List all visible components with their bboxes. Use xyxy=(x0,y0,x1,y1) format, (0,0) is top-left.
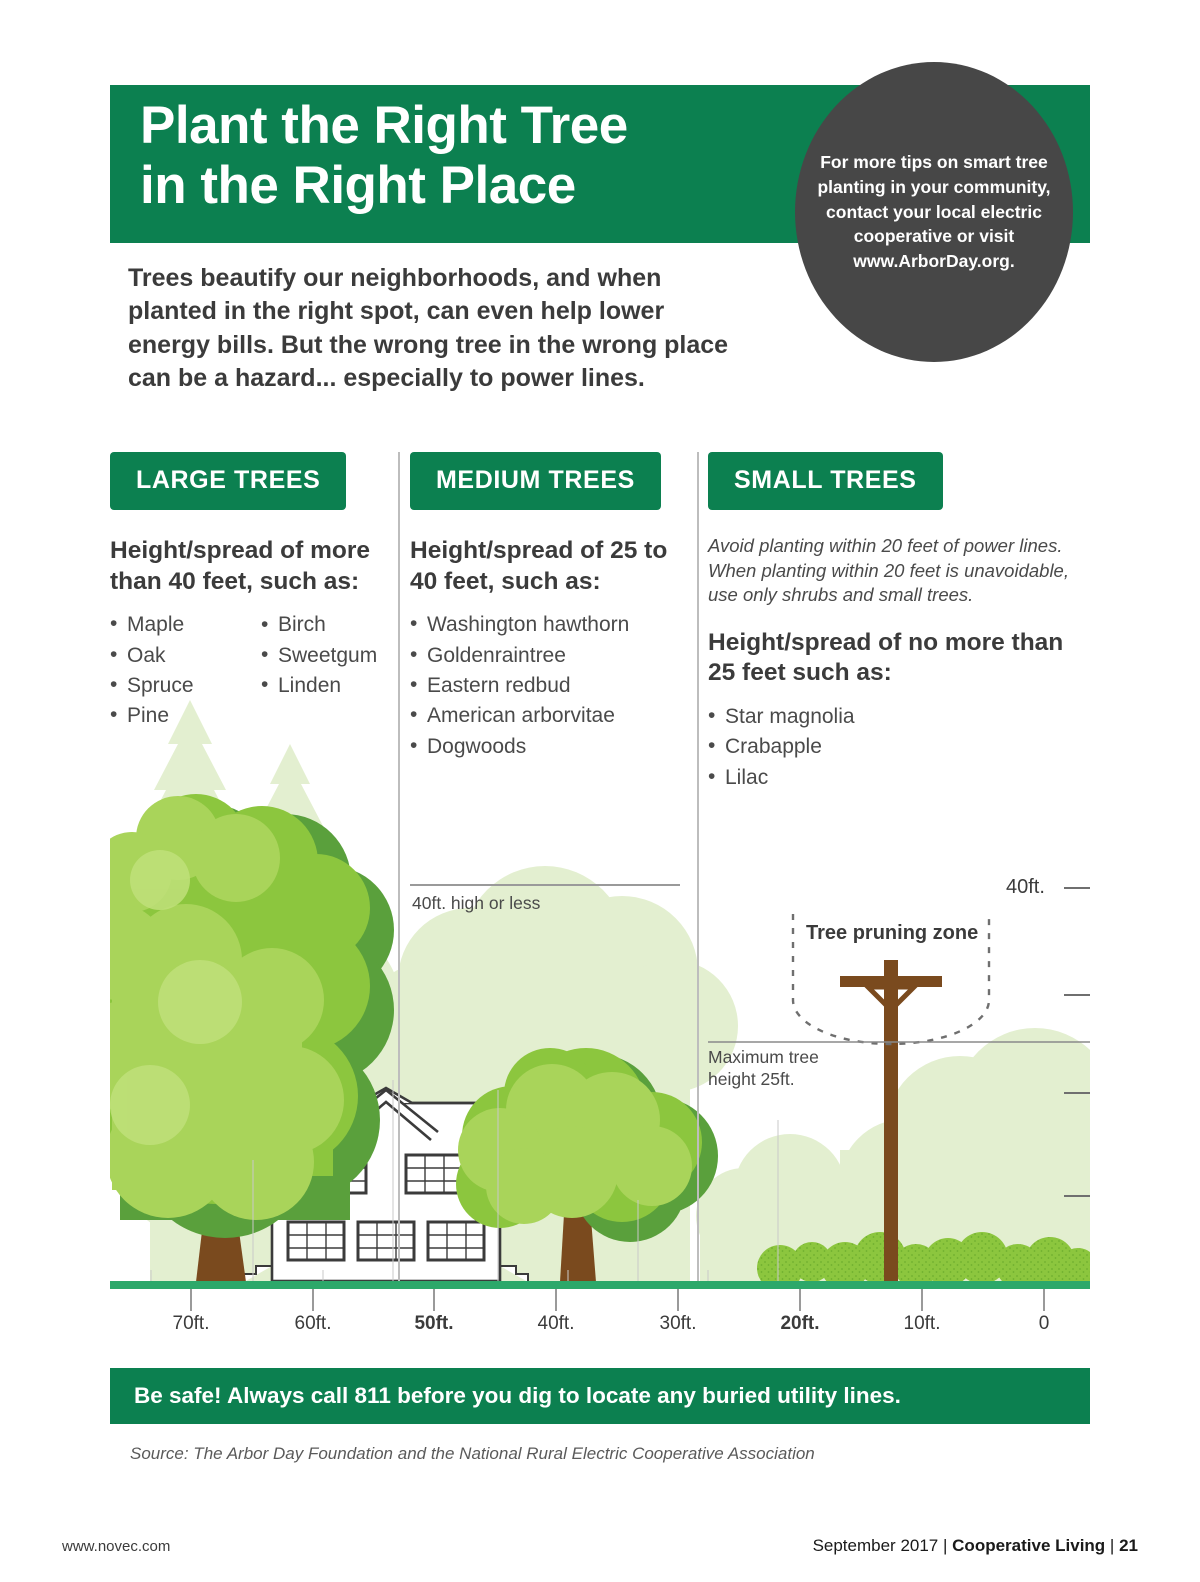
column-heading-large: LARGE TREES xyxy=(110,452,346,510)
scale-label-40ft: 40ft. xyxy=(538,1313,575,1335)
scale-tick xyxy=(555,1289,557,1311)
tree-list-large: Maple Oak Spruce Pine Birch Sweetgum Lin… xyxy=(110,611,398,730)
list-item: Maple xyxy=(110,611,247,639)
list-item: American arborvitae xyxy=(410,702,697,730)
list-item: Sweetgum xyxy=(261,642,398,670)
scale-label-0: 0 xyxy=(1039,1313,1050,1335)
list-item: Spruce xyxy=(110,672,247,700)
tree-pruning-zone-label: Tree pruning zone xyxy=(806,922,978,945)
tree-list-small: Star magnolia Crabapple Lilac xyxy=(708,703,1090,792)
list-item: Goldenraintree xyxy=(410,642,697,670)
safety-message: Be safe! Always call 811 before you dig … xyxy=(134,1383,901,1409)
list-item: Birch xyxy=(261,611,398,639)
list-item: Eastern redbud xyxy=(410,672,697,700)
elevation-tick-3 xyxy=(1064,1092,1090,1094)
distance-scale-ruler: 70ft. 60ft. 50ft. 40ft. 30ft. 20ft. 10ft… xyxy=(110,1289,1090,1349)
footer-separator-2: | xyxy=(1110,1536,1114,1555)
source-credit: Source: The Arbor Day Foundation and the… xyxy=(130,1444,815,1464)
tips-callout-text: For more tips on smart tree planting in … xyxy=(809,150,1059,274)
footer-page-number: 21 xyxy=(1119,1536,1138,1555)
footer-website-url[interactable]: www.novec.com xyxy=(62,1538,170,1555)
list-item: Oak xyxy=(110,642,247,670)
scale-tick xyxy=(190,1289,192,1311)
scale-label-20ft: 20ft. xyxy=(780,1313,819,1335)
scale-tick xyxy=(433,1289,435,1311)
column-heading-small: SMALL TREES xyxy=(708,452,943,510)
scale-label-50ft: 50ft. xyxy=(414,1313,453,1335)
scale-label-10ft: 10ft. xyxy=(904,1313,941,1335)
safety-message-rest: Always call 811 before you dig to locate… xyxy=(222,1383,901,1408)
column-subheading-medium: Height/spread of 25 to 40 feet, such as: xyxy=(410,536,697,597)
ground-line xyxy=(110,1281,1090,1289)
scale-tick xyxy=(677,1289,679,1311)
elevation-tick-40ft-label: 40ft. xyxy=(1006,876,1045,899)
column-subheading-small: Height/spread of no more than 25 feet su… xyxy=(708,628,1090,689)
safety-banner: Be safe! Always call 811 before you dig … xyxy=(110,1368,1090,1424)
infographic-page: Plant the Right Tree in the Right Place … xyxy=(0,0,1200,1582)
safety-message-bold: Be safe! xyxy=(134,1383,222,1408)
scale-label-60ft: 60ft. xyxy=(295,1313,332,1335)
large-tree xyxy=(69,794,394,1282)
column-divider-1 xyxy=(398,452,400,1284)
list-item: Crabapple xyxy=(708,733,1090,761)
column-medium-trees: MEDIUM TREES Height/spread of 25 to 40 f… xyxy=(410,452,697,763)
column-heading-medium: MEDIUM TREES xyxy=(410,452,661,510)
column-divider-2 xyxy=(697,452,699,1284)
column-large-trees: LARGE TREES Height/spread of more than 4… xyxy=(110,452,398,731)
scale-tick xyxy=(312,1289,314,1311)
list-item: Lilac xyxy=(708,764,1090,792)
page-title: Plant the Right Tree in the Right Place xyxy=(140,96,820,217)
list-item: Pine xyxy=(110,702,247,730)
scale-tick xyxy=(921,1289,923,1311)
scale-tick xyxy=(1043,1289,1045,1311)
scale-label-70ft: 70ft. xyxy=(173,1313,210,1335)
scale-label-30ft: 30ft. xyxy=(660,1313,697,1335)
list-item: Washington hawthorn xyxy=(410,611,697,639)
list-item: Dogwoods xyxy=(410,733,697,761)
avoid-planting-note: Avoid planting within 20 feet of power l… xyxy=(708,534,1090,608)
maximum-tree-height-label: Maximum tree height 25ft. xyxy=(708,1046,868,1091)
elevation-tick-40ft xyxy=(1064,887,1090,889)
footer-publication: Cooperative Living xyxy=(952,1536,1105,1555)
elevation-tick-4 xyxy=(1064,1195,1090,1197)
list-item: Star magnolia xyxy=(708,703,1090,731)
footer-separator-1: | xyxy=(943,1536,947,1555)
footer-date: September 2017 xyxy=(813,1536,939,1555)
tips-callout-circle: For more tips on smart tree planting in … xyxy=(795,62,1073,362)
intro-paragraph: Trees beautify our neighborhoods, and wh… xyxy=(128,262,748,395)
list-item: Linden xyxy=(261,672,398,700)
forty-ft-high-or-less-label: 40ft. high or less xyxy=(412,893,540,914)
page-title-line2: in the Right Place xyxy=(140,156,820,216)
tree-list-medium: Washington hawthorn Goldenraintree Easte… xyxy=(410,611,697,761)
page-title-line1: Plant the Right Tree xyxy=(140,96,628,155)
column-small-trees: SMALL TREES Avoid planting within 20 fee… xyxy=(708,452,1090,794)
column-subheading-large: Height/spread of more than 40 feet, such… xyxy=(110,536,398,597)
scale-tick xyxy=(799,1289,801,1311)
elevation-tick-2 xyxy=(1064,994,1090,996)
footer-issue-info: September 2017 | Cooperative Living | 21 xyxy=(813,1536,1138,1556)
